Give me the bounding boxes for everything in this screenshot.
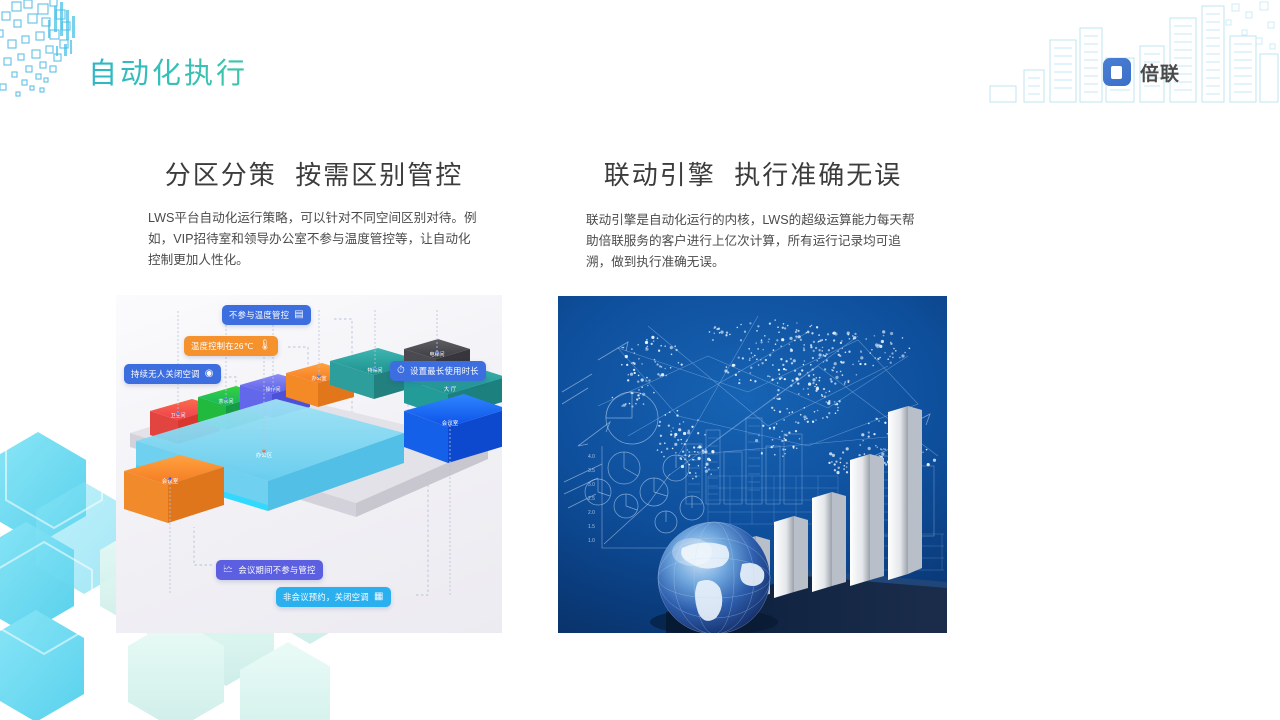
tag-unattended-ac-off[interactable]: 持续无人关闭空调 ◉ <box>124 364 221 384</box>
section-title-zoning: 分区分策 按需区别管控 <box>116 155 512 192</box>
rounded-square-logo-icon <box>1103 58 1131 86</box>
svg-text:2.0: 2.0 <box>588 510 595 516</box>
pixel-dense-block-icon <box>48 2 75 56</box>
svg-text:1.5: 1.5 <box>588 524 595 530</box>
tag-label: 设置最长使用时长 <box>410 365 479 377</box>
thermometer-icon: 🌡 <box>258 341 271 351</box>
calendar-check-icon: ▦ <box>374 592 384 602</box>
section-title-engine: 联动引擎 执行准确无误 <box>558 155 948 192</box>
section-body-zoning: LWS平台自动化运行策略，可以针对不同空间区别对待。例如，VIP招待室和领导办公… <box>148 208 480 271</box>
page-title: 自动化执行 <box>88 50 248 92</box>
chart-axis-labels: 4.03.53.0 2.52.01.5 1.0 <box>588 454 595 544</box>
svg-text:4.0: 4.0 <box>588 454 595 460</box>
zoned-control-floorplan-diagram: 卫生间 茶水间 操作间 办公室 特殊间 <box>116 295 502 633</box>
section-body-engine: 联动引擎是自动化运行的内核，LWS的超级运算能力每天帮助倍联服务的客户进行上亿次… <box>586 210 916 273</box>
document-list-icon: ▤ <box>294 310 304 320</box>
svg-text:2.5: 2.5 <box>588 496 595 502</box>
tag-label: 温度控制在26℃ <box>191 340 253 352</box>
svg-text:1.0: 1.0 <box>588 538 595 544</box>
motion-sensor-icon: ◉ <box>205 369 214 379</box>
bar <box>812 492 846 592</box>
tag-temperature-26[interactable]: 温度控制在26℃ 🌡 <box>184 336 278 356</box>
tag-meeting-exempt[interactable]: 🗠 会议期间不参与管控 <box>216 560 323 580</box>
dotted-world-map <box>612 319 937 479</box>
city-skyline-outline-decoration-icon <box>990 2 1278 102</box>
tag-label: 非会议预约，关闭空调 <box>283 591 369 603</box>
pixel-squares-decoration-icon <box>0 0 70 96</box>
column-zoning: 分区分策 按需区别管控 LWS平台自动化运行策略，可以针对不同空间区别对待。例如… <box>116 155 512 271</box>
brand-logo: 倍联 <box>1103 58 1180 86</box>
svg-text:3.0: 3.0 <box>588 482 595 488</box>
tag-label: 持续无人关闭空调 <box>131 368 200 380</box>
bar <box>774 516 808 598</box>
column-engine: 联动引擎 执行准确无误 联动引擎是自动化运行的内核，LWS的超级运算能力每天帮助… <box>558 155 948 273</box>
tag-label: 不参与温度管控 <box>229 309 289 321</box>
tag-max-usage-time[interactable]: ⏱ 设置最长使用时长 <box>390 361 486 381</box>
bar <box>888 406 922 580</box>
network-connection-lines <box>598 316 938 476</box>
timer-icon: ⏱ <box>397 366 405 376</box>
presentation-icon: 🗠 <box>223 565 233 575</box>
tag-no-booking-ac-off[interactable]: 非会议预约，关闭空调 ▦ <box>276 587 391 607</box>
bar <box>850 454 884 586</box>
global-data-analytics-image: 4.03.53.0 2.52.01.5 1.0 <box>558 296 947 633</box>
tag-label: 会议期间不参与管控 <box>238 564 315 576</box>
tag-no-temperature-control[interactable]: 不参与温度管控 ▤ <box>222 305 311 325</box>
brand-name: 倍联 <box>1140 59 1180 86</box>
svg-text:3.5: 3.5 <box>588 468 595 474</box>
